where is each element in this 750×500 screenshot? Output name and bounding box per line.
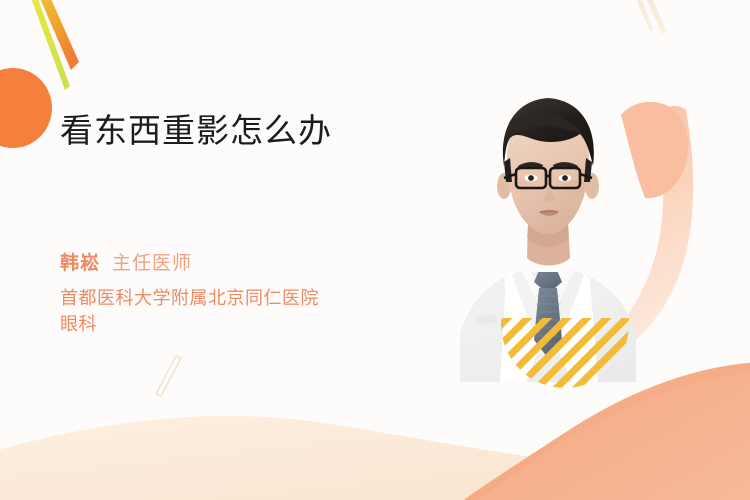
doctor-name: 韩崧 bbox=[60, 248, 100, 275]
doctor-title: 主任医师 bbox=[112, 248, 192, 275]
doctor-info-card: 看东西重影怎么办 韩崧 主任医师 首都医科大学附属北京同仁医院 眼科 bbox=[0, 0, 750, 500]
striped-semicircle-icon bbox=[501, 300, 629, 428]
eye-right bbox=[562, 175, 568, 181]
text-content-block: 看东西重影怎么办 韩崧 主任医师 首都医科大学附属北京同仁医院 眼科 bbox=[60, 110, 460, 152]
diagonal-stroke-outline-icon bbox=[156, 356, 181, 396]
doctor-identity-line: 韩崧 主任医师 bbox=[60, 248, 192, 275]
page-title: 看东西重影怎么办 bbox=[60, 110, 460, 152]
department-name: 眼科 bbox=[60, 314, 97, 334]
doctor-affiliation: 首都医科大学附属北京同仁医院 眼科 bbox=[60, 285, 390, 337]
eye-left bbox=[528, 175, 534, 181]
hospital-name: 首都医科大学附属北京同仁医院 bbox=[60, 288, 319, 308]
